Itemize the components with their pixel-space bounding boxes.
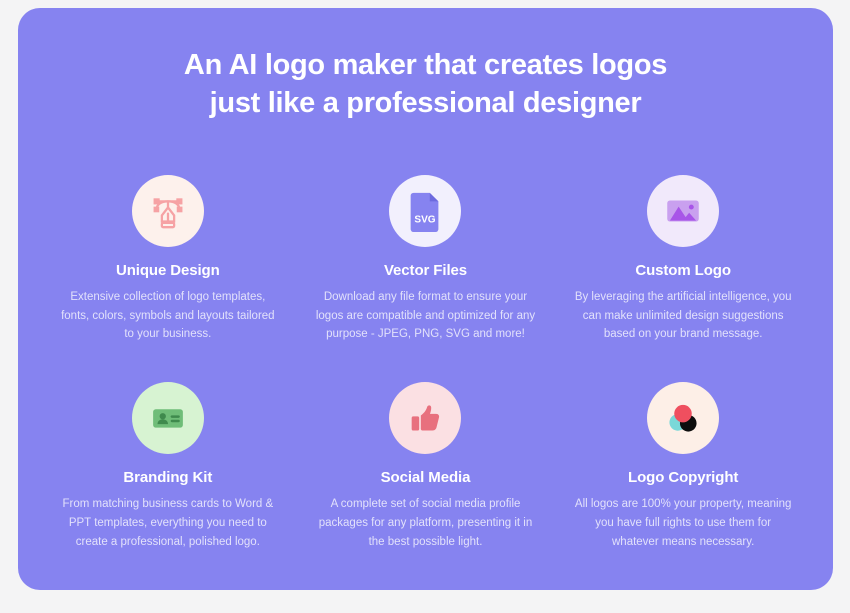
svg-file-icon: SVG [389, 175, 461, 247]
feature-description: From matching business cards to Word & P… [58, 495, 278, 552]
feature-description: Extensive collection of logo templates, … [58, 288, 278, 345]
feature-card-unique-design: Unique Design Extensive collection of lo… [44, 175, 292, 345]
overlapping-circles-icon [647, 382, 719, 454]
feature-title: Social Media [381, 469, 471, 486]
business-card-icon [132, 382, 204, 454]
svg-file-label: SVG [415, 214, 436, 225]
features-panel: An AI logo maker that creates logos just… [18, 8, 833, 590]
feature-card-custom-logo: Custom Logo By leveraging the artificial… [559, 175, 807, 345]
pen-tool-icon [132, 175, 204, 247]
feature-card-social-media: Social Media A complete set of social me… [302, 382, 550, 552]
feature-title: Logo Copyright [628, 469, 738, 486]
features-grid: Unique Design Extensive collection of lo… [44, 175, 807, 553]
feature-title: Branding Kit [123, 469, 212, 486]
image-photo-icon [647, 175, 719, 247]
feature-description: Download any file format to ensure your … [316, 288, 536, 345]
feature-title: Vector Files [384, 262, 467, 279]
headline-line-1: An AI logo maker that creates logos [44, 46, 807, 84]
feature-card-vector-files: SVG Vector Files Download any file forma… [302, 175, 550, 345]
feature-title: Custom Logo [635, 262, 731, 279]
thumbs-up-icon [389, 382, 461, 454]
feature-description: All logos are 100% your property, meanin… [573, 495, 793, 552]
feature-card-branding-kit: Branding Kit From matching business card… [44, 382, 292, 552]
headline-line-2: just like a professional designer [44, 84, 807, 122]
feature-description: A complete set of social media profile p… [316, 495, 536, 552]
feature-card-logo-copyright: Logo Copyright All logos are 100% your p… [559, 382, 807, 552]
feature-description: By leveraging the artificial intelligenc… [573, 288, 793, 345]
feature-title: Unique Design [116, 262, 220, 279]
page-title: An AI logo maker that creates logos just… [44, 38, 807, 123]
